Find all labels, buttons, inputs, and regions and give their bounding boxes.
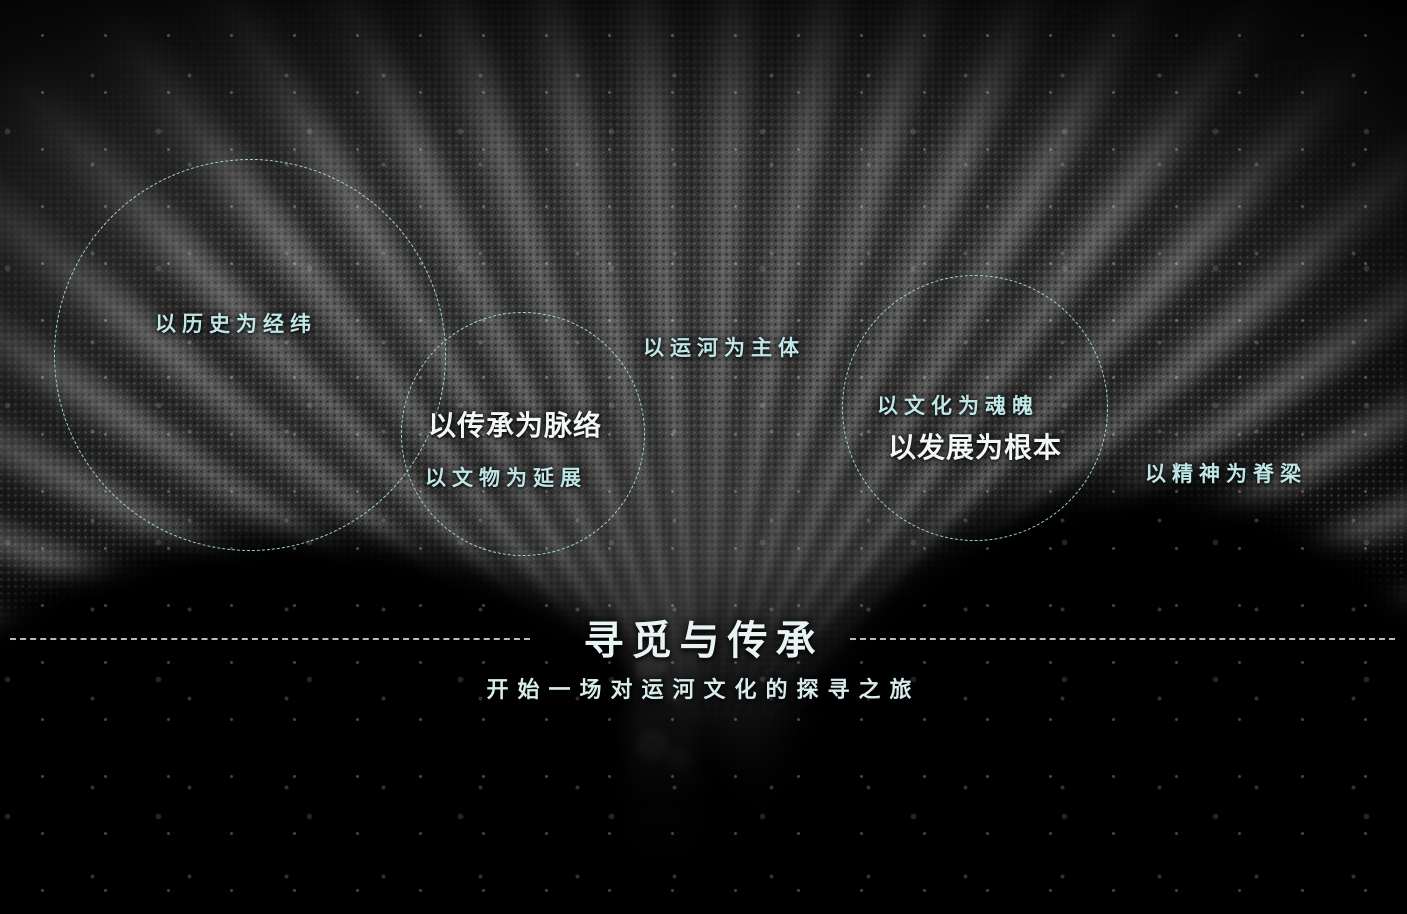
- dashed-circle-history: [54, 159, 446, 551]
- caption-culture: 以文化为魂魄: [877, 390, 1039, 420]
- banner-subtitle: 开始一场对运河文化的探寻之旅: [0, 672, 1407, 704]
- caption-inheritance: 以传承为脉络: [428, 404, 602, 444]
- caption-spirit: 以精神为脊梁: [1145, 458, 1307, 488]
- caption-canal: 以运河为主体: [643, 332, 805, 362]
- caption-history: 以历史为经纬: [155, 308, 317, 338]
- caption-development: 以发展为根本: [888, 426, 1062, 466]
- banner-title: 寻觅与传承: [0, 608, 1407, 666]
- caption-relics: 以文物为延展: [425, 462, 587, 492]
- hero-scene: 以历史为经纬 以运河为主体 以传承为脉络 以文化为魂魄 以文物为延展 以发展为根…: [0, 0, 1407, 914]
